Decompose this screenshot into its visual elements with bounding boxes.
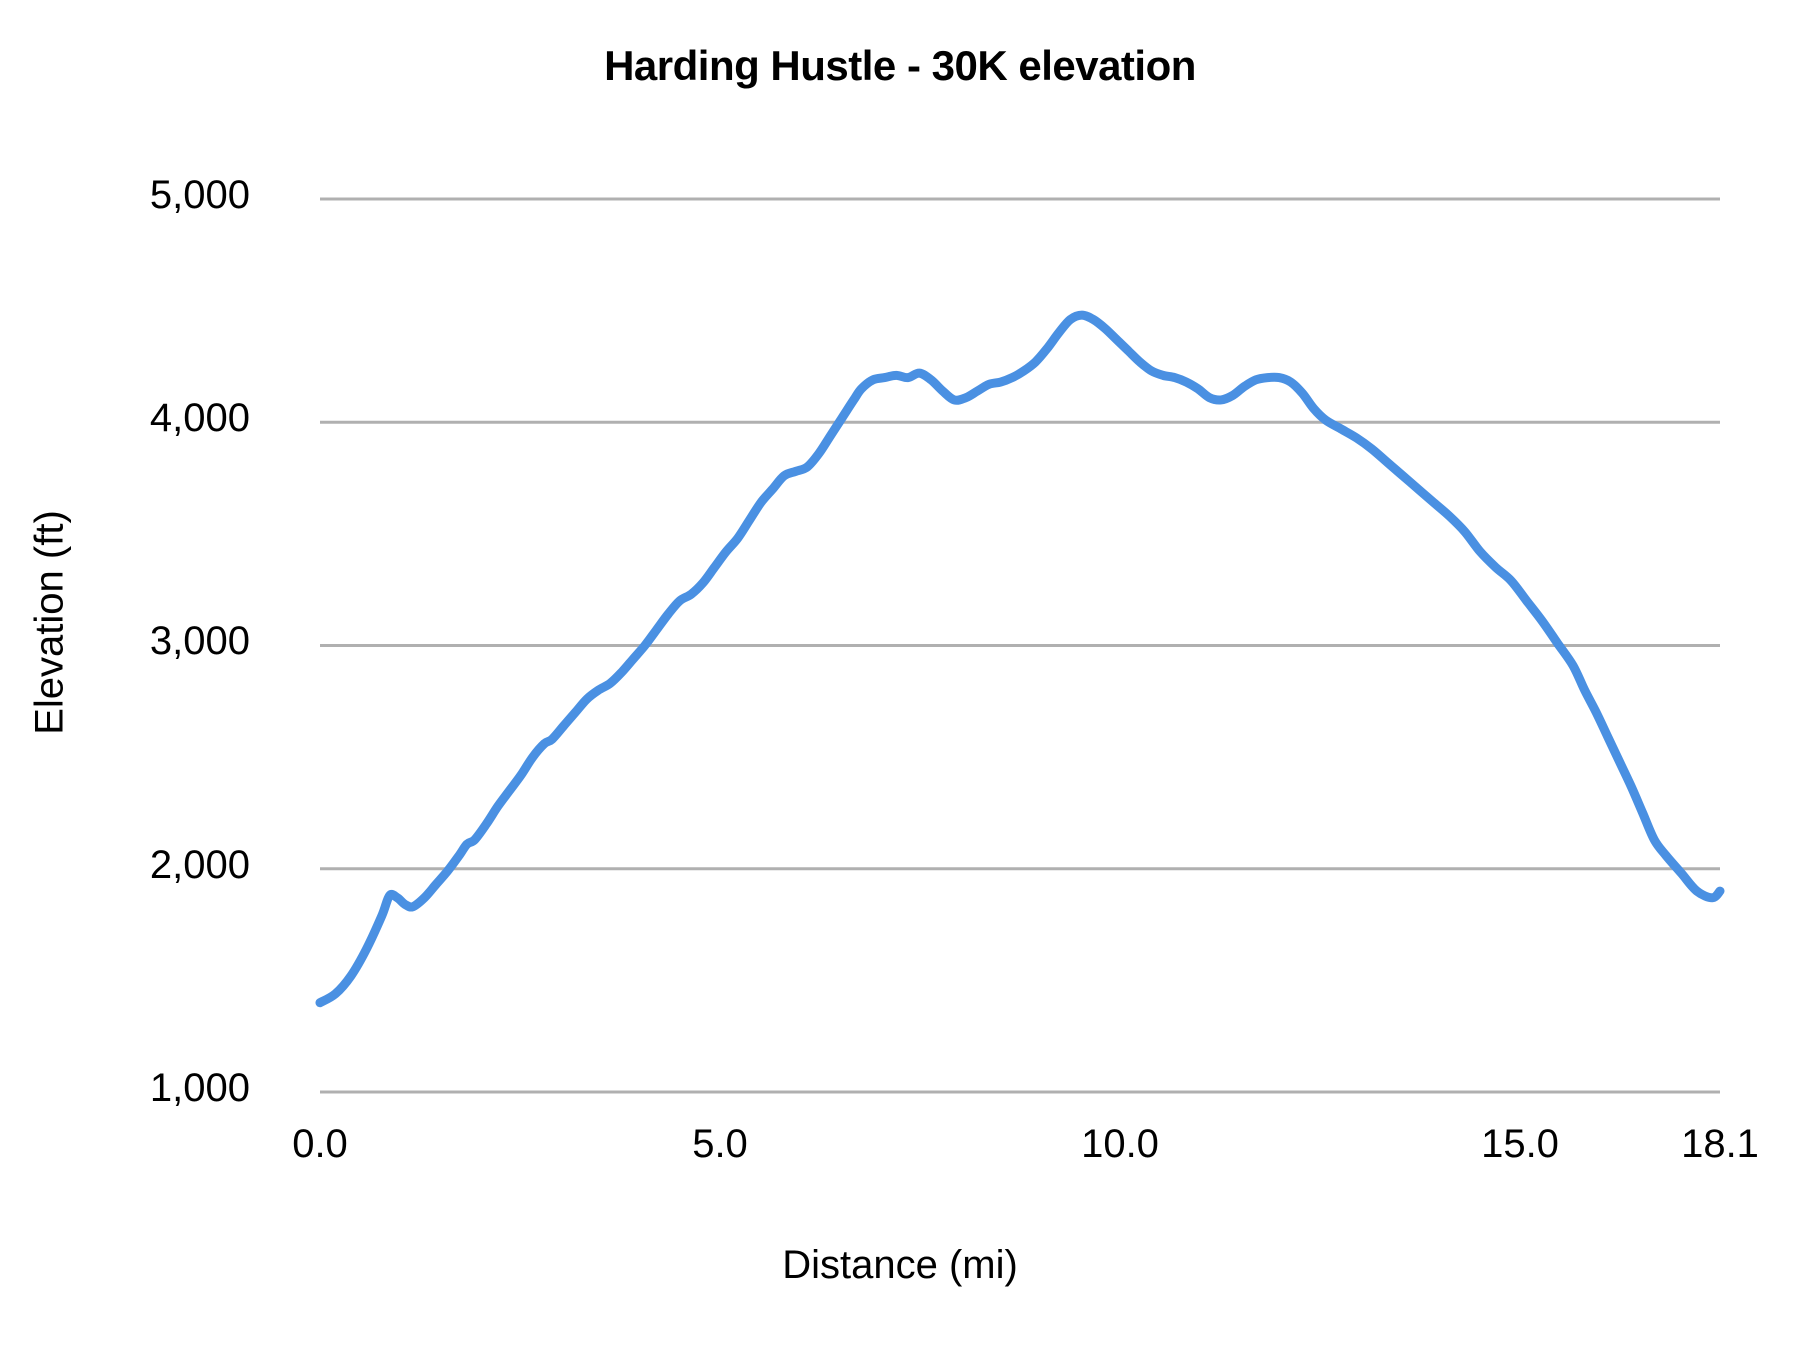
gridlines: [320, 199, 1720, 1092]
plot-area: [0, 0, 1800, 1350]
elevation-line-series: [320, 315, 1720, 1003]
elevation-chart: Harding Hustle - 30K elevation 5,000 4,0…: [0, 0, 1800, 1350]
